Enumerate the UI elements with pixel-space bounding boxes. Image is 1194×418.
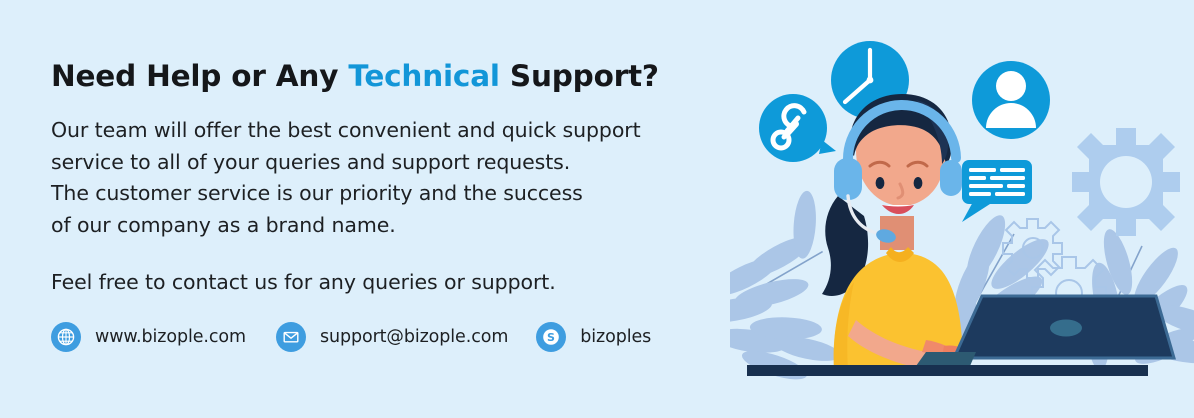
contact-email[interactable]: support@bizople.com (276, 322, 508, 352)
user-icon (972, 61, 1050, 139)
intro-paragraph: Our team will offer the best convenient … (51, 115, 731, 241)
eye-left (876, 177, 885, 189)
contact-skype[interactable]: S bizoples (536, 322, 651, 352)
gear-large-filled (1072, 128, 1180, 236)
contact-skype-label: bizoples (580, 327, 651, 347)
laptop-logo (1050, 320, 1082, 337)
page-title: Need Help or Any Technical Support? (51, 60, 731, 92)
skype-icon: S (536, 322, 566, 352)
envelope-icon (276, 322, 306, 352)
headphone-ear-left (834, 158, 862, 200)
contact-row: www.bizople.com support@bizople.com S bi… (51, 322, 651, 352)
contact-website[interactable]: www.bizople.com (51, 322, 246, 352)
contact-website-label: www.bizople.com (95, 327, 246, 347)
illustration-svg (730, 0, 1194, 418)
globe-icon (51, 322, 81, 352)
headphone-ear-right (940, 160, 962, 196)
laptop-base (916, 352, 976, 366)
paragraph-line-2: service to all of your queries and suppo… (51, 147, 731, 179)
text-column: Need Help or Any Technical Support? Our … (51, 60, 731, 299)
headline-part2: Support? (500, 59, 659, 93)
support-illustration (730, 0, 1194, 418)
support-banner: Need Help or Any Technical Support? Our … (0, 0, 1194, 418)
contact-email-label: support@bizople.com (320, 327, 508, 347)
headline-accent: Technical (348, 59, 500, 93)
paragraph-line-4: of our company as a brand name. (51, 210, 731, 242)
svg-text:S: S (547, 331, 555, 344)
headline-part1: Need Help or Any (51, 59, 348, 93)
call-to-action-text: Feel free to contact us for any queries … (51, 267, 731, 299)
desk-surface (747, 365, 1148, 376)
paragraph-line-1: Our team will offer the best convenient … (51, 115, 731, 147)
paragraph-line-3: The customer service is our priority and… (51, 178, 731, 210)
eye-right (914, 177, 923, 189)
